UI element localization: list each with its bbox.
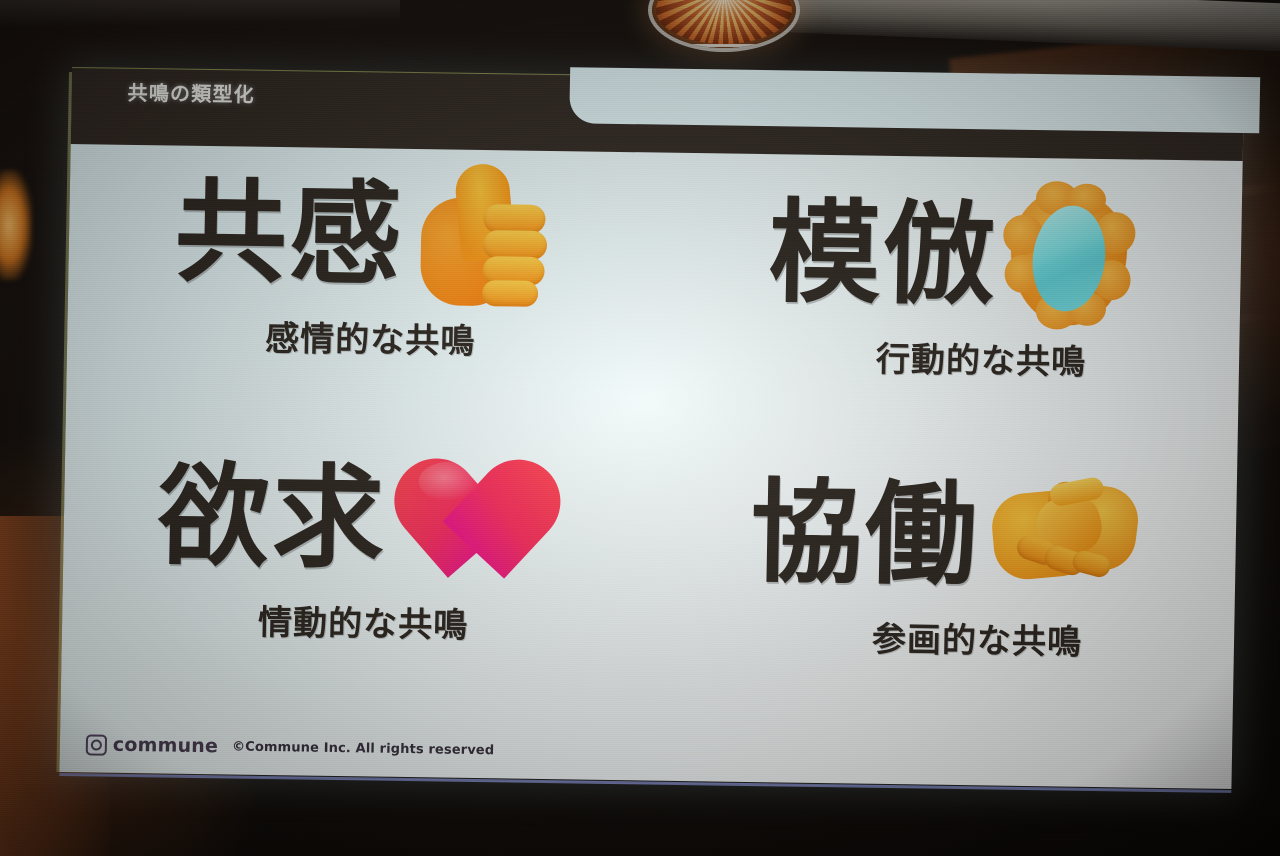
concept-subtitle: 情動的な共鳴 [62,592,649,649]
commune-logo: commune [86,733,219,757]
concept-subtitle: 感情的な共鳴 [67,308,654,365]
copyright-text: ©Commune Inc. All rights reserved [232,739,494,758]
handshake-emoji [992,475,1136,599]
concept-card-kyokan: 共感 感情的な共鳴 [66,150,657,438]
slide-content: 共鳴の類型化 共感 感情的な共 [59,72,1244,789]
concept-title: 共感 [174,177,405,292]
concept-card-yokkyu: 欲求 情動的な共鳴 [61,430,652,718]
commune-logo-icon [86,734,107,755]
concept-subtitle: 行動的な共鳴 [653,328,1240,385]
page-title: 共鳴の類型化 [127,77,255,108]
red-heart-emoji [399,449,558,593]
commune-logo-text: commune [113,734,219,758]
concept-subtitle: 参画的な共鳴 [648,608,1235,665]
concept-grid: 共感 感情的な共鳴 模倣 [61,150,1243,727]
projection-screen: 共鳴の類型化 共感 感情的な共 [0,0,1280,856]
thumbs-up-emoji [416,163,551,311]
concept-title: 協働 [750,477,981,592]
mirror-emoji [1010,189,1128,327]
concept-title: 欲求 [157,460,388,575]
concept-title: 模倣 [768,197,999,312]
concept-card-kyodou: 協働 参画的な共鳴 [647,438,1238,726]
slide-surface: 共鳴の類型化 共感 感情的な共 [59,72,1244,789]
slide-header-band: 共鳴の類型化 [71,68,1244,161]
concept-card-mohou: 模倣 行動的な共鳴 [652,158,1243,446]
header-notch [569,67,1260,133]
